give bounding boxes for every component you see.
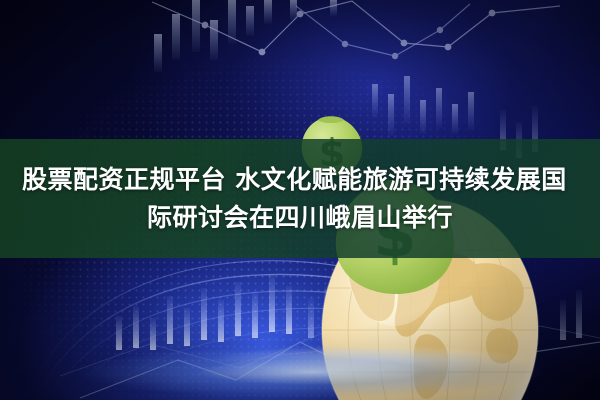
banner-title-line-2: 际研讨会在四川峨眉山举行 [147,199,453,237]
banner-title-line-1: 股票配资正规平台 水文化赋能旅游可持续发展国 [14,161,567,199]
title-band: 股票配资正规平台 水文化赋能旅游可持续发展国 际研讨会在四川峨眉山举行 [0,139,600,258]
banner-image: $ $ 股票配资正规平台 水文化赋能旅游可持续发展国 际研讨会在四川峨眉山举行 [0,0,600,400]
